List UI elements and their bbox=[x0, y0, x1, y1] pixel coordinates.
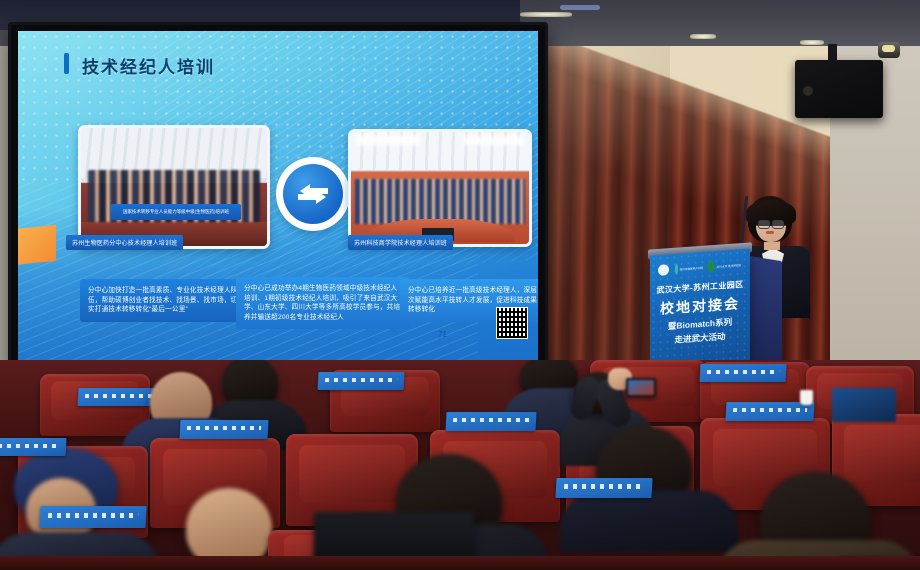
slide-photo-1-caption: 苏州生物医药分中心技术经理人培训班 bbox=[66, 235, 183, 250]
whu-logo-mark bbox=[707, 261, 715, 273]
bidirectional-arrow-icon bbox=[294, 182, 332, 206]
slide-orange-accent bbox=[18, 225, 56, 266]
name-placard bbox=[39, 506, 146, 528]
glasses-icon bbox=[758, 220, 784, 227]
audience-shoulders bbox=[560, 490, 738, 552]
wall-speaker-icon bbox=[795, 60, 883, 118]
photo-2-audience bbox=[355, 179, 526, 224]
arrow-badge-inner bbox=[283, 164, 343, 224]
ceiling-downlight bbox=[560, 5, 600, 10]
audience-area bbox=[0, 360, 920, 570]
photo-2-logo-right bbox=[463, 136, 524, 145]
slide-title: 技术经纪人培训 bbox=[82, 53, 215, 78]
slide-page-number: 71 bbox=[438, 330, 447, 339]
photo-2-content bbox=[351, 132, 529, 244]
photo-1-content: 国家技术转移专业人员能力等级中级(生物医药)培训班 bbox=[81, 128, 267, 246]
name-placard bbox=[446, 412, 537, 431]
paper-cup bbox=[800, 390, 813, 405]
slide-canvas: 技术经纪人培训 国家技术转移专业人员能力等级中级(生物医药)培训班 苏州生物医药… bbox=[18, 31, 538, 361]
name-placard bbox=[180, 420, 269, 439]
whu-logo-text: 武汉大学 苏州研究院 bbox=[717, 263, 741, 269]
ceiling-spotlight-icon bbox=[878, 42, 900, 58]
slide-photo-2 bbox=[348, 129, 532, 247]
name-placard bbox=[700, 364, 787, 382]
biobay-logo-text: 苏州生物医药产业园 bbox=[680, 265, 703, 271]
seat-row-rail bbox=[0, 556, 920, 570]
name-placard bbox=[0, 438, 66, 456]
photo-1-banner: 国家技术转移专业人员能力等级中级(生物医药)培训班 bbox=[111, 204, 241, 221]
smartphone-camera-icon bbox=[626, 378, 656, 397]
ceiling-downlight bbox=[520, 12, 572, 17]
sip-logo-icon bbox=[655, 262, 671, 278]
presentation-screen[interactable]: 技术经纪人培训 国家技术转移专业人员能力等级中级(生物医药)培训班 苏州生物医药… bbox=[8, 22, 548, 374]
photo-2-logo-left bbox=[356, 135, 420, 145]
biobay-logo-icon: 苏州生物医药产业园 bbox=[675, 260, 703, 277]
slide-text-block-2: 分中心已成功举办4期生物医药领域中级技术经纪人培训、1期初级技术经纪人培训，吸引… bbox=[236, 277, 410, 329]
photo-1-banner-text: 国家技术转移专业人员能力等级中级(生物医药)培训班 bbox=[123, 209, 229, 215]
whu-logo-icon: 武汉大学 苏州研究院 bbox=[707, 257, 741, 274]
bidirectional-arrow-badge bbox=[276, 157, 350, 231]
screenshot-root: 技术经纪人培训 国家技术转移专业人员能力等级中级(生物医药)培训班 苏州生物医药… bbox=[0, 0, 920, 570]
ceiling-downlight bbox=[690, 34, 716, 39]
slide-text-block-1: 分中心加快打造一批高素质、专业化技术经理人队伍，帮助硕博创业者找技术、找场景、找… bbox=[80, 279, 248, 322]
podium-banner: 苏州生物医药产业园 武汉大学 苏州研究院 武汉大学-苏州工业园区 校地对接会 暨… bbox=[650, 249, 750, 374]
slide-photo-1: 国家技术转移专业人员能力等级中级(生物医药)培训班 bbox=[78, 125, 270, 249]
qr-code-icon bbox=[496, 307, 528, 339]
name-placard bbox=[555, 478, 652, 498]
ceiling-downlight bbox=[800, 40, 824, 45]
slide-photo-2-caption: 苏州科技商学院技术经理人培训班 bbox=[348, 235, 453, 250]
name-placard bbox=[318, 372, 405, 390]
audience-monitor bbox=[832, 388, 896, 422]
biobay-logo-mark bbox=[675, 264, 678, 275]
sip-logo-mark bbox=[658, 264, 669, 276]
slide-title-bar bbox=[64, 53, 69, 74]
name-placard bbox=[726, 402, 815, 421]
presenter-mouth bbox=[766, 231, 774, 234]
